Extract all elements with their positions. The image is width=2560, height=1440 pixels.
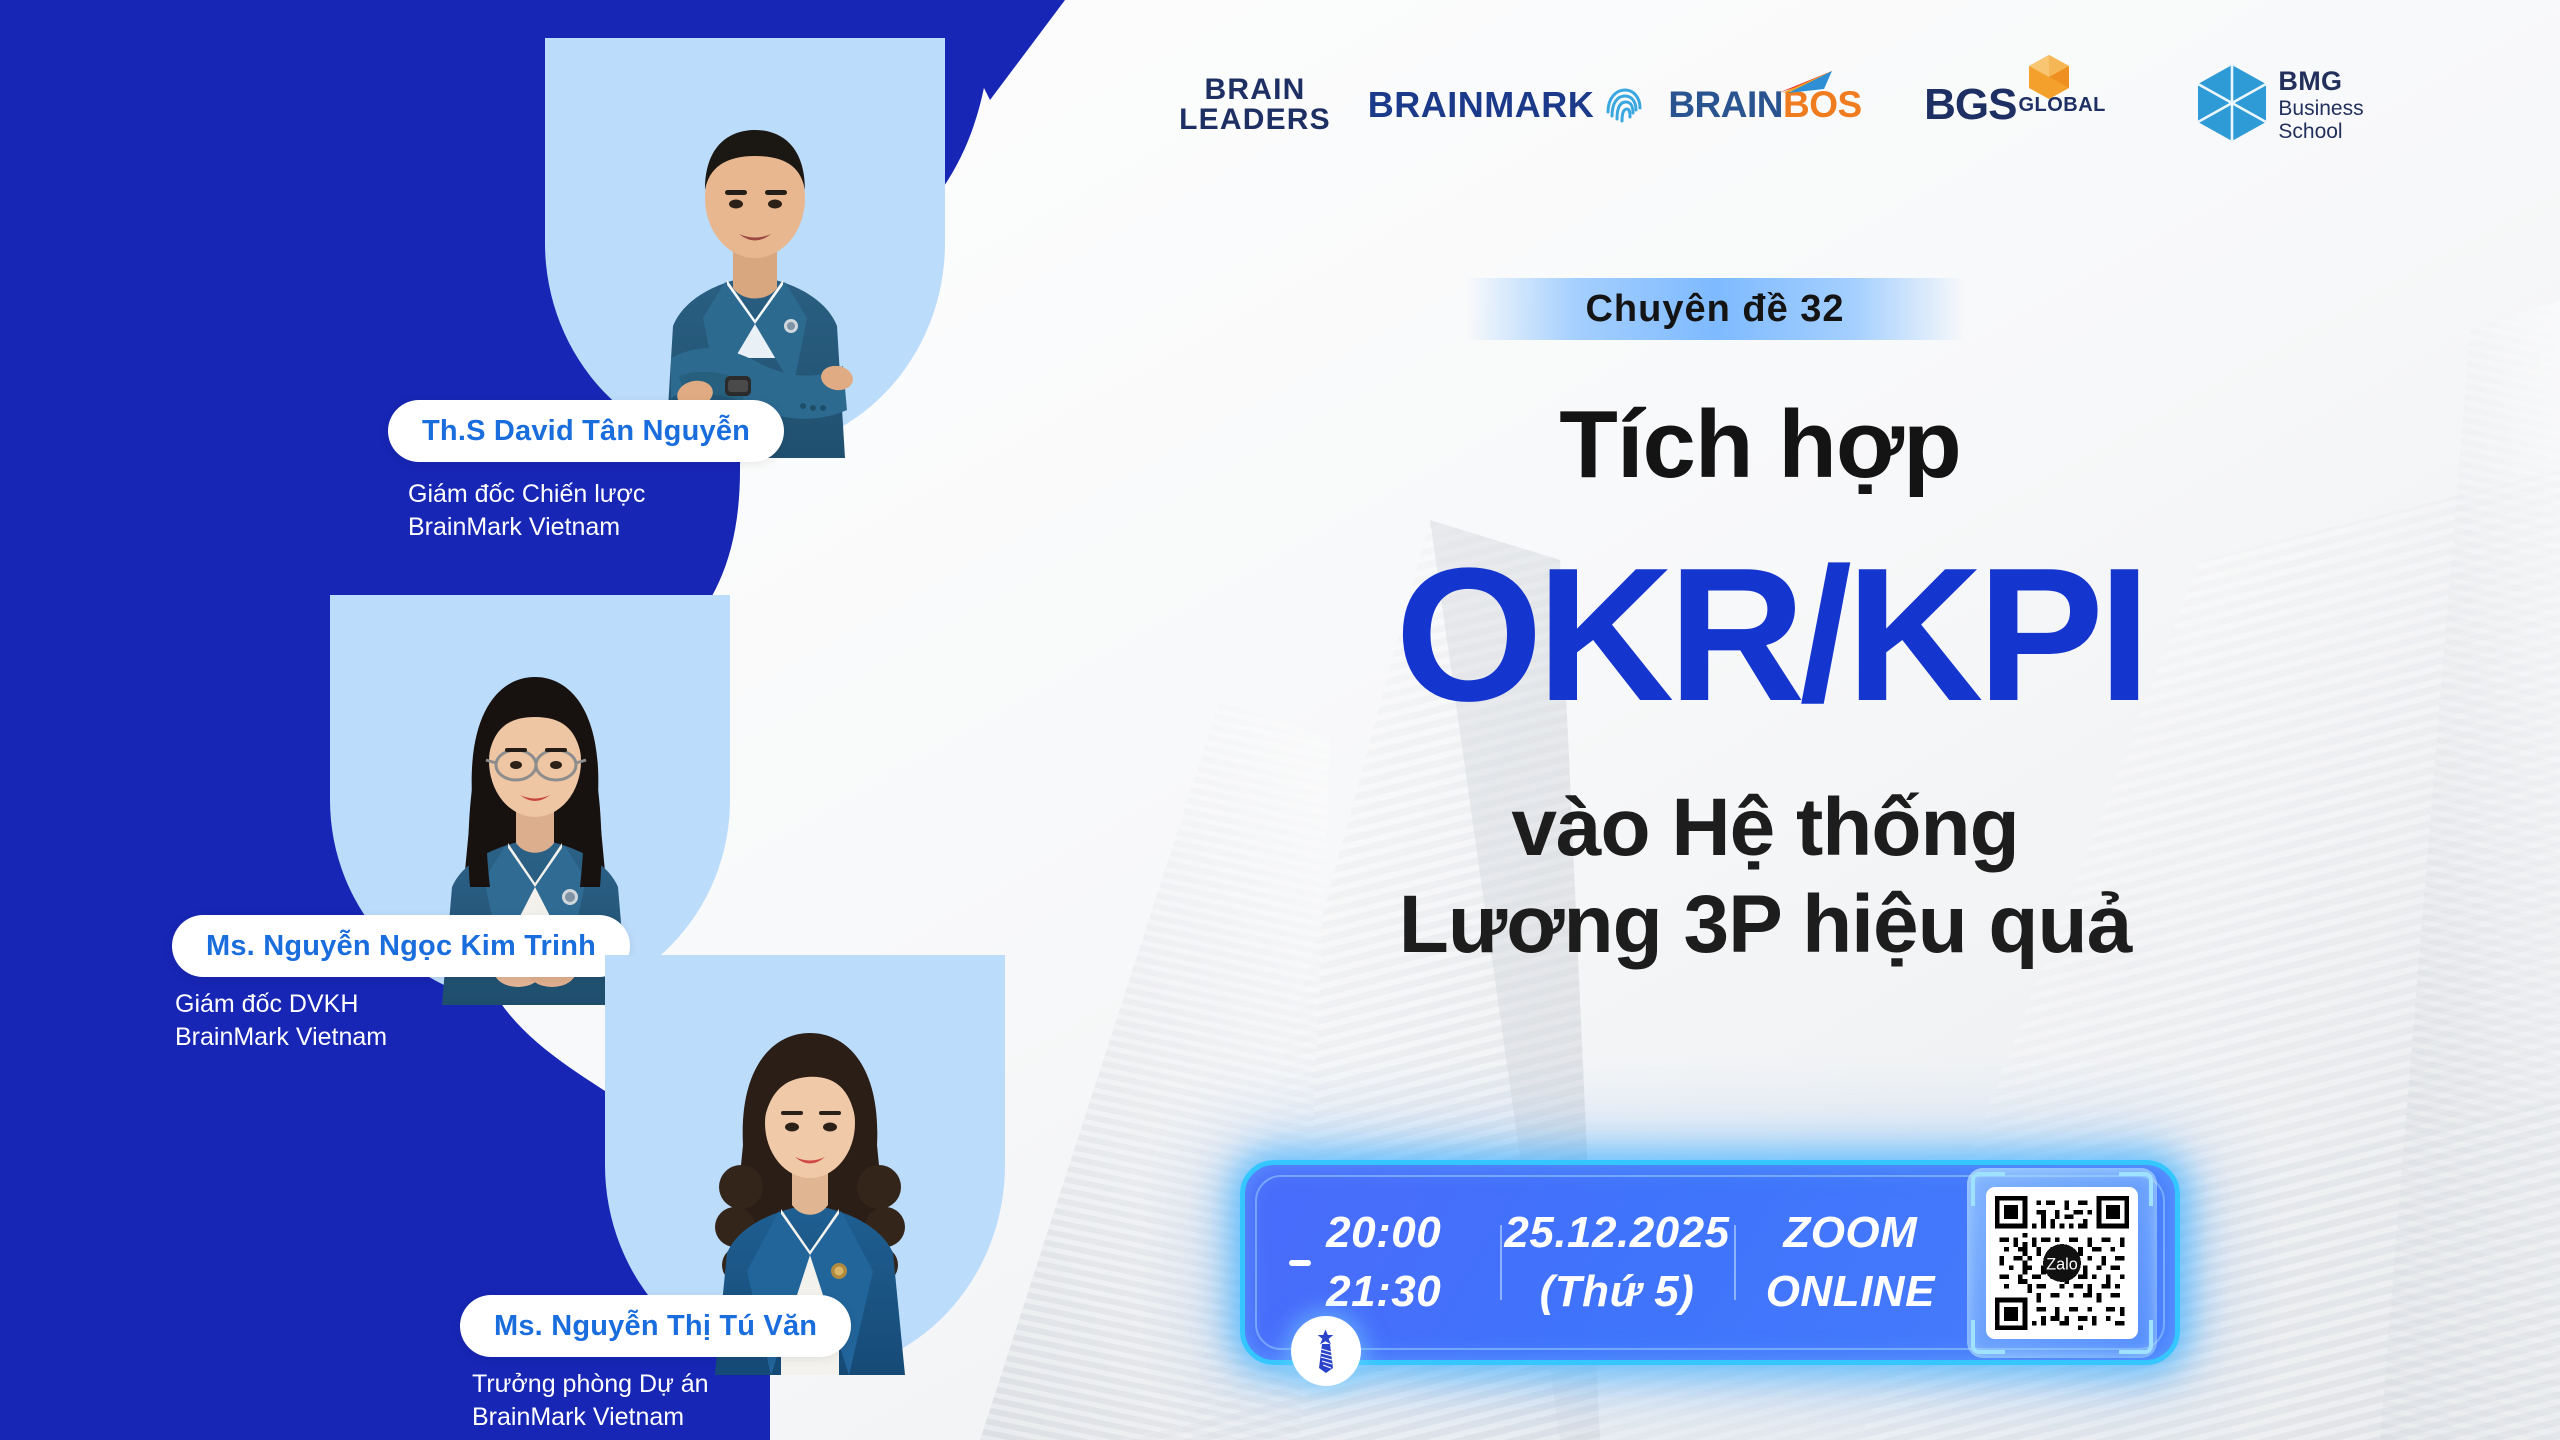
brainbos-part1: BRAIN: [1668, 84, 1783, 125]
time-range-dash-icon: [1289, 1260, 1311, 1266]
qr-code-block[interactable]: Zalo: [1967, 1168, 2157, 1358]
speaker-name-1: Th.S David Tân Nguyễn: [422, 415, 750, 448]
speaker-role-line2-2: BrainMark Vietnam: [175, 1021, 387, 1054]
speaker-role-line2-1: BrainMark Vietnam: [408, 511, 645, 544]
event-time-start: 20:00: [1267, 1204, 1500, 1262]
speaker-role-1: Giám đốc Chiến lược BrainMark Vietnam: [408, 478, 645, 545]
fingerprint-icon: [1600, 82, 1642, 129]
bmg-line3: School: [2278, 120, 2363, 144]
logo-brainmark: BRAINMARK: [1360, 82, 1650, 129]
qr-center-label: Zalo: [2046, 1255, 2077, 1273]
event-date: 25.12.2025: [1500, 1204, 1733, 1262]
speaker-portrait-1: [575, 58, 935, 458]
bmg-line2: Business: [2278, 97, 2363, 121]
logo-bmg-business-school: BMG Business School: [2150, 63, 2410, 148]
event-info-bar: 20:00 21:30 25.12.2025 (Thứ 5) ZOOM ONLI…: [1240, 1160, 2180, 1365]
event-platform-line2: ONLINE: [1734, 1263, 1967, 1321]
speaker-name-pill-2: Ms. Nguyễn Ngọc Kim Trinh: [172, 915, 630, 977]
headline-line-3: vào Hệ thống: [1200, 780, 2330, 877]
speaker-name-pill-1: Th.S David Tân Nguyễn: [388, 400, 784, 462]
speaker-role-line1-2: Giám đốc DVKH: [175, 988, 387, 1021]
logo-brain-leaders: BRAIN LEADERS: [1150, 75, 1360, 135]
event-date-column: 25.12.2025 (Thứ 5): [1500, 1204, 1733, 1320]
headline-line-2: OKR/KPI: [1180, 540, 2360, 730]
headline-line-3-4: vào Hệ thống Lương 3P hiệu quả: [1200, 780, 2330, 974]
event-time-end: 21:30: [1267, 1263, 1500, 1321]
speaker-role-2: Giám đốc DVKH BrainMark Vietnam: [175, 988, 387, 1055]
logo-brainbos: BRAINBOS: [1650, 84, 1880, 126]
headline-line-1: Tích hợp: [1200, 390, 2320, 500]
event-platform-column: ZOOM ONLINE: [1734, 1204, 1967, 1320]
speaker-role-line1-3: Trưởng phòng Dự án: [472, 1368, 709, 1401]
bmg-line1: BMG: [2278, 66, 2363, 96]
speaker-role-line1-1: Giám đốc Chiến lược: [408, 478, 645, 511]
speaker-role-3: Trưởng phòng Dự án BrainMark Vietnam: [472, 1368, 709, 1435]
topic-badge-label: Chuyên đề 32: [1585, 288, 1844, 331]
speaker-name-3: Ms. Nguyễn Thị Tú Văn: [494, 1310, 817, 1343]
event-weekday: (Thứ 5): [1500, 1263, 1733, 1321]
topic-badge: Chuyên đề 32: [1465, 278, 1965, 340]
brand-seal-icon: [1306, 1328, 1346, 1374]
bgs-main-text: BGS: [1924, 80, 2016, 130]
speaker-name-pill-3: Ms. Nguyễn Thị Tú Văn: [460, 1295, 851, 1357]
event-platform-line1: ZOOM: [1734, 1204, 1967, 1262]
qr-code-image[interactable]: Zalo: [1986, 1187, 2138, 1339]
brand-seal-badge: [1291, 1316, 1361, 1386]
speaker-role-line2-3: BrainMark Vietnam: [472, 1401, 709, 1434]
brain-leaders-line2: LEADERS: [1179, 105, 1331, 135]
blue-hexagon-icon: [2196, 63, 2268, 148]
partner-logo-strip: BRAIN LEADERS BRAINMARK B: [1150, 50, 2450, 160]
orange-hexagon-icon: [2028, 54, 2070, 105]
event-time-column: 20:00 21:30: [1267, 1204, 1500, 1320]
speaker-name-2: Ms. Nguyễn Ngọc Kim Trinh: [206, 930, 596, 963]
headline-line-4: Lương 3P hiệu quả: [1200, 877, 2330, 974]
logo-bgs-global: BGS GLOBAL: [1880, 80, 2150, 130]
brainmark-text: BRAINMARK: [1368, 84, 1594, 126]
brainbos-swoosh-icon: [1776, 62, 1836, 104]
brain-leaders-line1: BRAIN: [1205, 75, 1306, 105]
webinar-poster: Th.S David Tân Nguyễn Giám đốc Chiến lượ…: [0, 0, 2560, 1440]
